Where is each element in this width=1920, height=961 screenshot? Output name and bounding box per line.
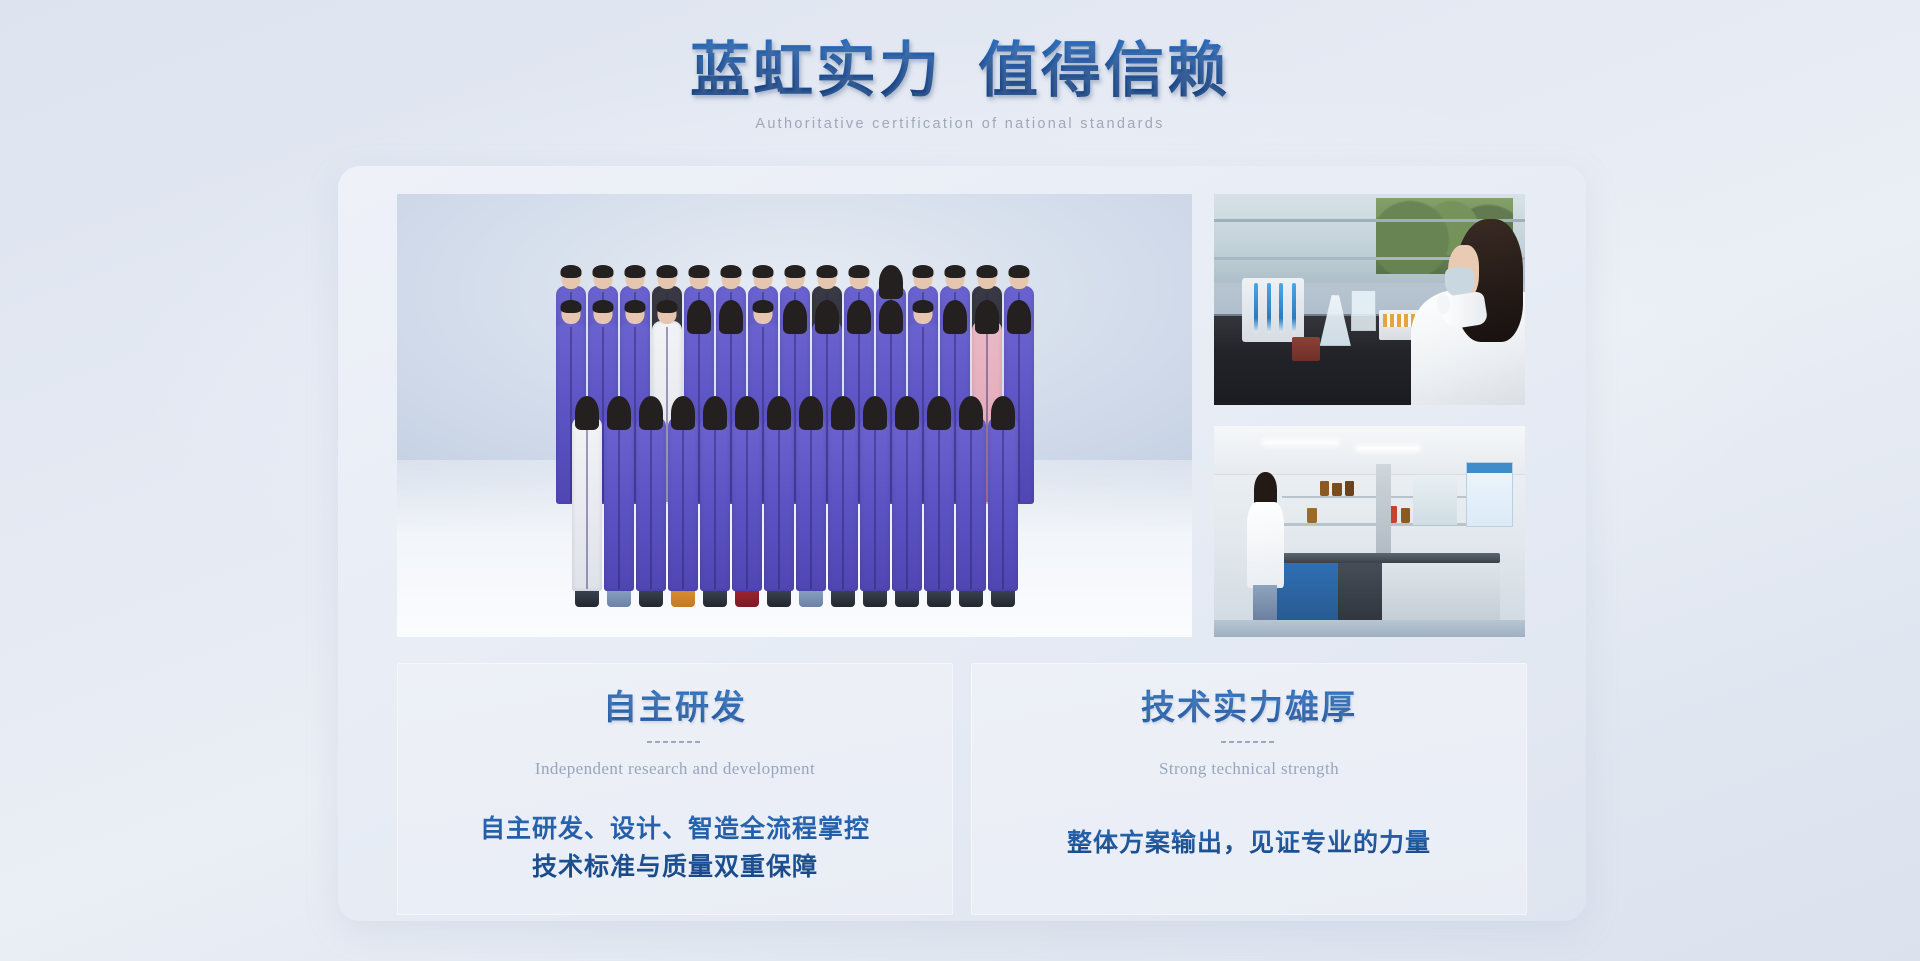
- feature-cards-row: 自主研发 Independent research and developmen…: [397, 663, 1527, 915]
- company-team-group-photo: [397, 194, 1192, 637]
- beaker: [1351, 291, 1376, 331]
- group-row-front: [397, 396, 1192, 591]
- feature-card-title: 自主研发: [603, 689, 747, 730]
- laboratory-room-photo: [1214, 426, 1525, 637]
- feature-card-description: 整体方案输出，见证专业的力量: [1067, 825, 1431, 863]
- feature-card-independent-rnd: 自主研发 Independent research and developmen…: [397, 663, 953, 915]
- feature-card-technical-strength: 技术实力雄厚 Strong technical strength 整体方案输出，…: [971, 663, 1527, 915]
- feature-card-description: 自主研发、设计、智造全流程掌控 技术标准与质量双重保障: [480, 811, 870, 887]
- lab-safety-poster: [1466, 462, 1513, 527]
- feature-card-title: 技术实力雄厚: [1141, 689, 1357, 730]
- media-row: [397, 194, 1527, 637]
- lab-technician-pipetting-photo: [1214, 194, 1525, 405]
- lab-technician: [1401, 219, 1525, 405]
- divider-dashed: [1221, 741, 1277, 743]
- panel-inner: 自主研发 Independent research and developmen…: [397, 194, 1527, 894]
- page-subtitle: Authoritative certification of national …: [0, 116, 1920, 132]
- feature-card-english-subtitle: Strong technical strength: [1159, 759, 1339, 779]
- page-header: 蓝虹实力 值得信赖 Authoritative certification of…: [0, 0, 1920, 132]
- feature-card-english-subtitle: Independent research and development: [535, 759, 815, 779]
- page-title: 蓝虹实力 值得信赖: [690, 36, 1230, 107]
- lab-worker: [1245, 472, 1285, 620]
- content-panel: 自主研发 Independent research and developmen…: [338, 166, 1586, 921]
- side-photo-column: [1214, 194, 1525, 637]
- divider-dashed: [647, 741, 703, 743]
- group-photo-people: [397, 194, 1192, 637]
